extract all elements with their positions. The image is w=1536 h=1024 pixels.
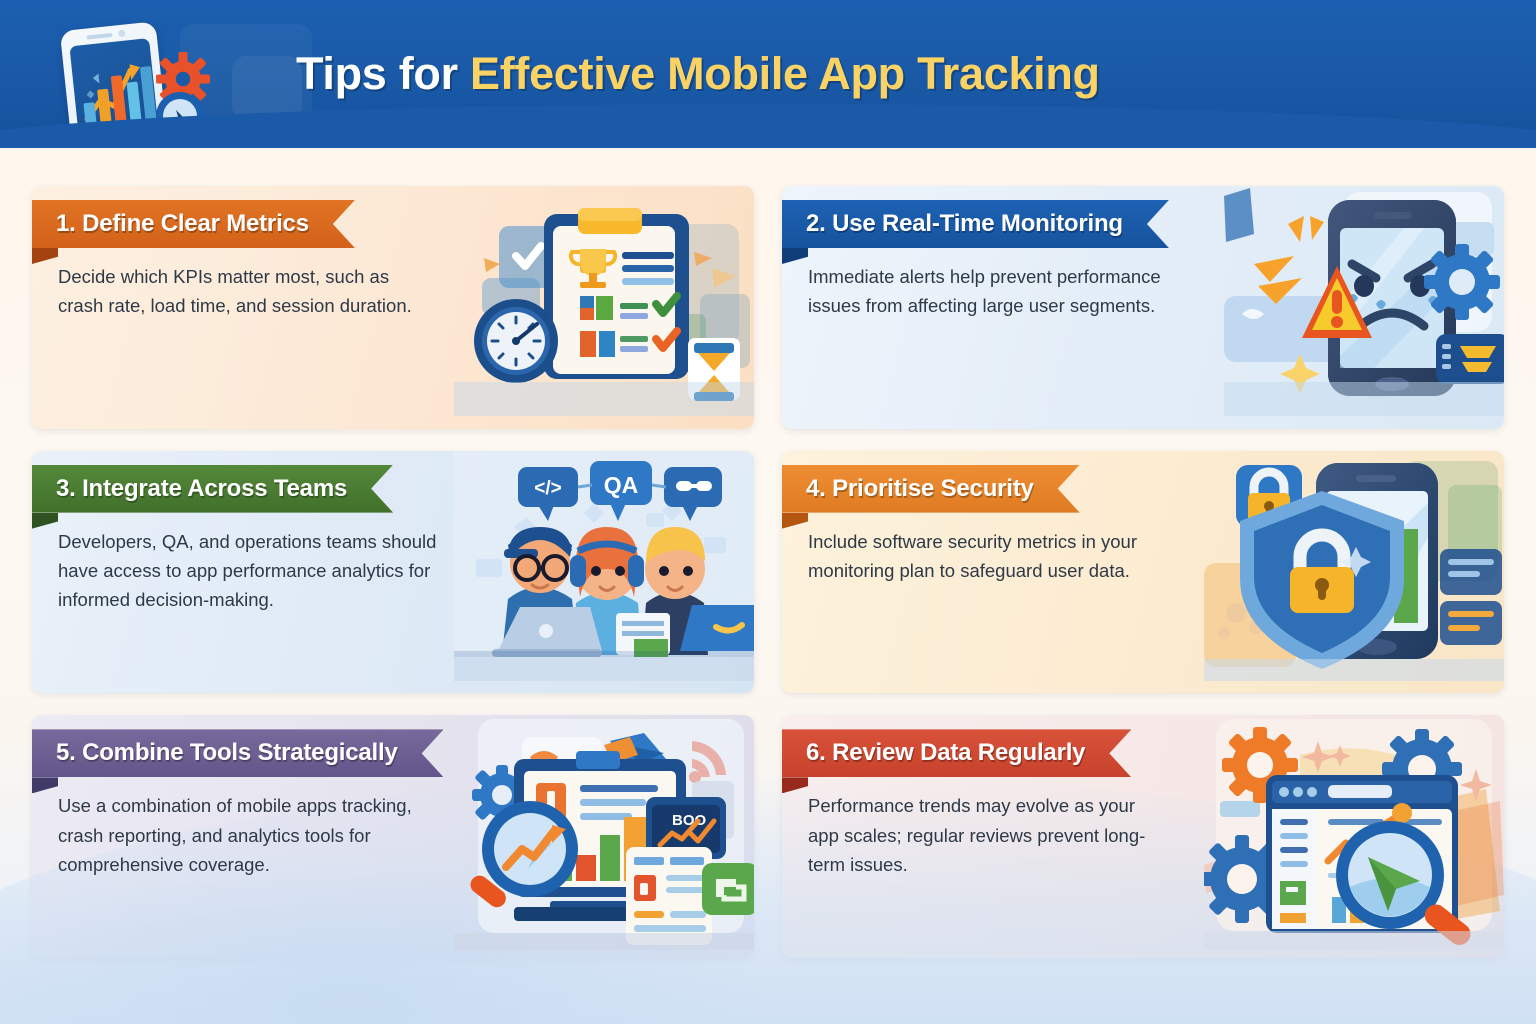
card-ribbon-2: 2. Use Real-Time Monitoring (782, 200, 1169, 248)
tip-card-3: </> QA (32, 451, 754, 694)
card-ribbon-4: 4. Prioritise Security (782, 465, 1080, 513)
tip-card-4: 4. Prioritise Security Include software … (782, 451, 1504, 694)
title-container: Tips for Effective Mobile App Tracking (296, 0, 1100, 148)
phone-speaker (86, 33, 112, 40)
review-dashboard-illustration (1204, 715, 1504, 950)
card-illustration-1 (454, 186, 754, 429)
panel-label: BOO (672, 812, 707, 829)
phone-icon (60, 21, 168, 148)
security-shield-phone-illustration (1204, 451, 1504, 681)
clipboard-trophy-clock-hourglass-illustration (454, 186, 754, 416)
card-illustration-2 (1224, 186, 1504, 429)
tip-card-6: 6. Review Data Regularly Performance tre… (782, 715, 1504, 958)
card-ribbon-5: 5. Combine Tools Strategically (32, 729, 444, 777)
magnifier-icon (152, 88, 220, 148)
tips-grid: 1. Define Clear Metrics Decide which KPI… (0, 148, 1536, 958)
bubble-label-code: </> (534, 478, 561, 499)
infographic-page: Tips for Effective Mobile App Tracking (0, 0, 1536, 1024)
card-body-1: Decide which KPIs matter most, such as c… (58, 262, 414, 320)
card-ribbon-1: 1. Define Clear Metrics (32, 200, 355, 248)
alert-burst-icon (1254, 216, 1324, 304)
card-heading-5: 5. Combine Tools Strategically (56, 739, 398, 767)
phone-camera (118, 30, 126, 38)
page-title: Tips for Effective Mobile App Tracking (296, 48, 1100, 100)
card-terminal-icon (1436, 334, 1504, 384)
tip-card-2: 2. Use Real-Time Monitoring Immediate al… (782, 186, 1504, 429)
card-body-2: Immediate alerts help prevent performanc… (808, 262, 1164, 320)
card-illustration-3: </> QA (454, 451, 754, 694)
card-body-6: Performance trends may evolve as your ap… (808, 791, 1164, 879)
card-heading-2: 2. Use Real-Time Monitoring (806, 210, 1123, 238)
clock-icon (474, 299, 558, 383)
chat-tile-icon (702, 863, 754, 915)
phone-screen (69, 38, 159, 144)
tip-card-5: BOO (32, 715, 754, 958)
bubble-label-qa: QA (604, 472, 639, 498)
card-ribbon-3: 3. Integrate Across Teams (32, 465, 393, 513)
card-ribbon-6: 6. Review Data Regularly (782, 729, 1131, 777)
card-illustration-4 (1204, 451, 1504, 694)
card-illustration-6 (1204, 715, 1504, 958)
card-body-3: Developers, QA, and operations teams sho… (58, 527, 450, 615)
tip-card-1: 1. Define Clear Metrics Decide which KPI… (32, 186, 754, 429)
tools-dashboard-illustration: BOO (454, 715, 754, 950)
card-body-4: Include software security metrics in you… (808, 527, 1164, 585)
angry-phone-alert-illustration (1224, 186, 1504, 416)
tablet-center (616, 613, 670, 657)
card-heading-6: 6. Review Data Regularly (806, 739, 1085, 767)
card-body-5: Use a combination of mobile apps trackin… (58, 791, 450, 879)
header-illustration (44, 18, 274, 148)
card-illustration-5: BOO (454, 715, 754, 958)
card-heading-4: 4. Prioritise Security (806, 475, 1034, 503)
team-collaboration-illustration: </> QA (454, 451, 754, 681)
page-title-prefix: Tips for (296, 48, 470, 99)
laptop-right (680, 605, 754, 651)
page-header: Tips for Effective Mobile App Tracking (0, 0, 1536, 148)
page-title-highlight: Effective Mobile App Tracking (470, 48, 1100, 99)
document-card (626, 847, 712, 945)
card-heading-1: 1. Define Clear Metrics (56, 210, 309, 238)
card-heading-3: 3. Integrate Across Teams (56, 475, 347, 503)
